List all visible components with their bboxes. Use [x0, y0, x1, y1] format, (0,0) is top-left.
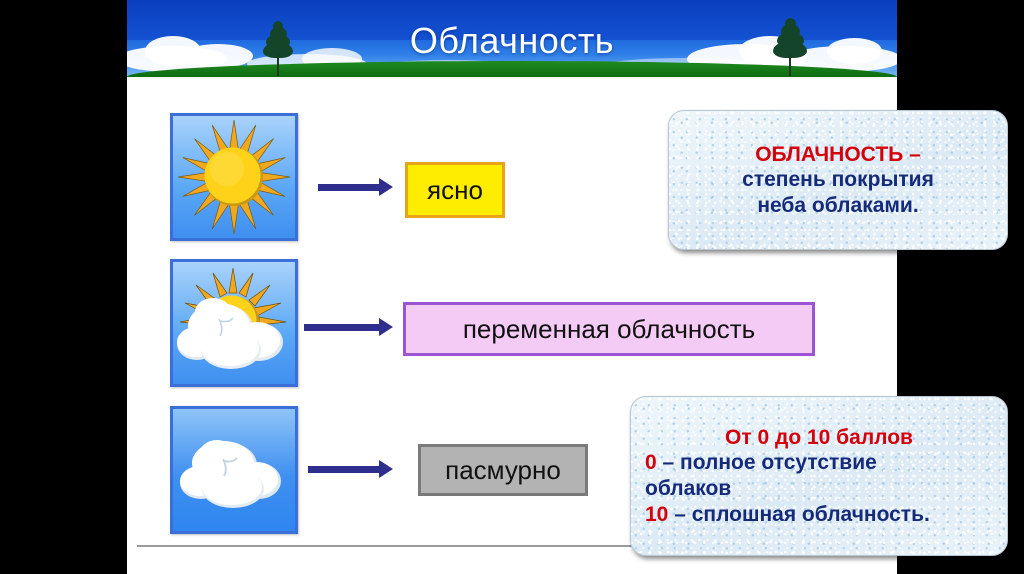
page-title: Облачность — [127, 20, 897, 62]
arrow-row-1 — [318, 184, 380, 191]
callout-definition-line-2: степень покрытия — [683, 167, 993, 193]
label-clear: ясно — [405, 162, 505, 218]
slide-stage: Облачность — [0, 0, 1024, 574]
callout-scale-item-1: 0 – полное отсутствие — [645, 450, 993, 476]
cloud-graphic — [173, 409, 295, 531]
callout-scale-item-1-number: 0 — [645, 451, 657, 474]
label-overcast-text: пасмурно — [445, 455, 561, 486]
slide-header-banner: Облачность — [127, 0, 897, 88]
label-partly-cloudy: переменная облачность — [403, 302, 815, 356]
callout-definition-line-1: ОБЛАЧНОСТЬ – — [683, 142, 993, 168]
sun-behind-cloud-icon — [170, 259, 298, 387]
callout-definition: ОБЛАЧНОСТЬ – степень покрытия неба облак… — [668, 110, 1008, 250]
callout-definition-line-3: неба облаками. — [683, 193, 993, 219]
callout-scale-item-2-text: – сплошная облачность. — [668, 503, 929, 526]
callout-scale-item-2-number: 10 — [645, 503, 668, 526]
label-overcast: пасмурно — [418, 444, 588, 496]
sun-icon — [170, 113, 298, 241]
arrow-row-3 — [308, 466, 380, 473]
callout-scale-item-1-cont: облаков — [645, 476, 993, 502]
callout-scale-heading: От 0 до 10 баллов — [645, 425, 993, 451]
label-partly-cloudy-text: переменная облачность — [463, 314, 755, 345]
callout-scale-item-1-text: – полное отсутствие — [657, 451, 877, 474]
arrow-row-2 — [304, 324, 380, 331]
label-clear-text: ясно — [427, 175, 483, 206]
sun-behind-cloud-graphic — [173, 262, 295, 384]
sun-icon-graphic — [173, 116, 295, 238]
banner-base-strip — [127, 77, 897, 88]
callout-scale: От 0 до 10 баллов 0 – полное отсутствие … — [630, 396, 1008, 556]
callout-scale-item-2: 10 – сплошная облачность. — [645, 502, 993, 528]
cloud-icon — [170, 406, 298, 534]
